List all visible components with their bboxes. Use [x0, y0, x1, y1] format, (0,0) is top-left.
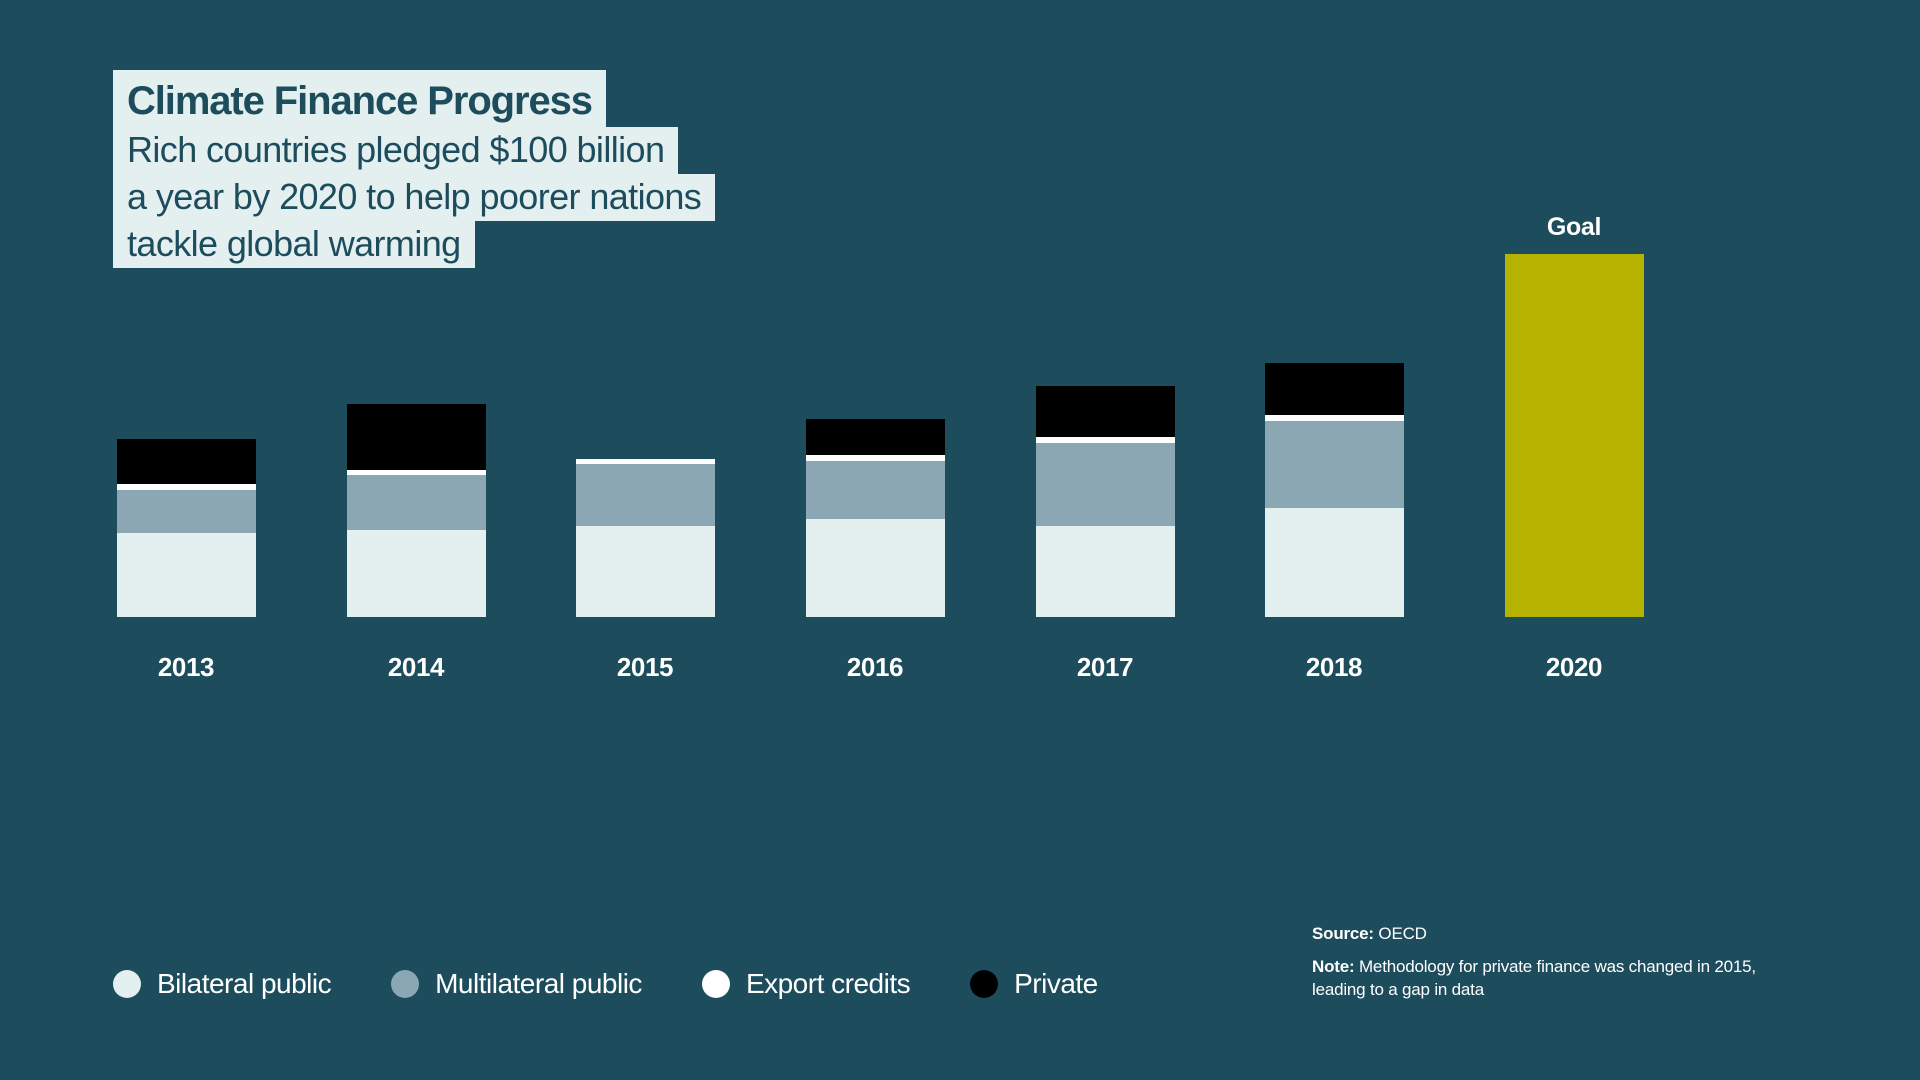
bar-stack: [347, 404, 486, 617]
bar-stack: [1036, 386, 1175, 617]
goal-annotation-label: Goal: [1505, 213, 1644, 242]
chart-plot-area: 201320142015201620172018Goal2020: [0, 0, 1920, 1080]
bar-segment-bilateral-public: [1036, 526, 1175, 617]
legend-label: Private: [1014, 968, 1098, 1000]
bar-stack: Goal: [1505, 254, 1644, 617]
bar-group-2020[interactable]: Goal2020: [1505, 181, 1644, 617]
note-row: Note: Methodology for private finance wa…: [1312, 956, 1782, 1002]
bar-group-2014[interactable]: 2014: [347, 181, 486, 617]
source-label: Source:: [1312, 924, 1374, 943]
bar-segment-multilateral-public: [576, 464, 715, 526]
bar-segment-multilateral-public: [117, 490, 256, 534]
bar-segment-multilateral-public: [347, 475, 486, 530]
legend-item-bilateral-public[interactable]: Bilateral public: [113, 968, 331, 1000]
bar-stack: [806, 419, 945, 617]
bar-segment-multilateral-public: [1265, 421, 1404, 508]
bar-stack: [1265, 363, 1404, 617]
bar-segment-private: [117, 439, 256, 484]
legend-item-export-credits[interactable]: Export credits: [702, 968, 910, 1000]
source-row: Source: OECD: [1312, 923, 1782, 946]
bar-group-2016[interactable]: 2016: [806, 181, 945, 617]
bar-stack: [576, 459, 715, 617]
legend-swatch-icon: [113, 970, 141, 998]
bar-segment-private: [1265, 363, 1404, 416]
legend-label: Bilateral public: [157, 968, 331, 1000]
x-axis-label-2018: 2018: [1265, 652, 1404, 683]
legend-swatch-icon: [970, 970, 998, 998]
infographic-canvas: Climate Finance Progress Rich countries …: [0, 0, 1920, 1080]
bar-segment-bilateral-public: [576, 526, 715, 617]
bar-segment-bilateral-public: [347, 530, 486, 617]
note-label: Note:: [1312, 957, 1354, 976]
x-axis-label-2016: 2016: [806, 652, 945, 683]
x-axis-label-2020: 2020: [1505, 652, 1644, 683]
bar-segment-private: [806, 419, 945, 455]
legend-label: Multilateral public: [435, 968, 642, 1000]
x-axis-label-2015: 2015: [576, 652, 715, 683]
note-value: Methodology for private finance was chan…: [1312, 957, 1756, 999]
bar-segment-goal: [1505, 254, 1644, 617]
bar-segment-multilateral-public: [1036, 443, 1175, 527]
chart-legend: Bilateral publicMultilateral publicExpor…: [113, 968, 1158, 1000]
bar-segment-private: [1036, 386, 1175, 437]
legend-label: Export credits: [746, 968, 910, 1000]
legend-item-private[interactable]: Private: [970, 968, 1098, 1000]
x-axis-label-2013: 2013: [117, 652, 256, 683]
legend-swatch-icon: [702, 970, 730, 998]
bar-group-2015[interactable]: 2015: [576, 181, 715, 617]
bar-group-2013[interactable]: 2013: [117, 181, 256, 617]
source-value: OECD: [1374, 924, 1427, 943]
legend-item-multilateral-public[interactable]: Multilateral public: [391, 968, 642, 1000]
bar-segment-bilateral-public: [1265, 508, 1404, 617]
y-axis: $0b$20b$40b$60b$80b$100b$120b: [1670, 0, 1920, 1080]
x-axis-label-2014: 2014: [347, 652, 486, 683]
legend-swatch-icon: [391, 970, 419, 998]
bar-segment-bilateral-public: [806, 519, 945, 617]
bar-stack: [117, 439, 256, 617]
bar-segment-multilateral-public: [806, 461, 945, 519]
bar-group-2017[interactable]: 2017: [1036, 181, 1175, 617]
bar-segment-bilateral-public: [117, 533, 256, 617]
x-axis-label-2017: 2017: [1036, 652, 1175, 683]
bar-segment-private: [347, 404, 486, 469]
bar-group-2018[interactable]: 2018: [1265, 181, 1404, 617]
source-note-block: Source: OECD Note: Methodology for priva…: [1312, 923, 1782, 1012]
